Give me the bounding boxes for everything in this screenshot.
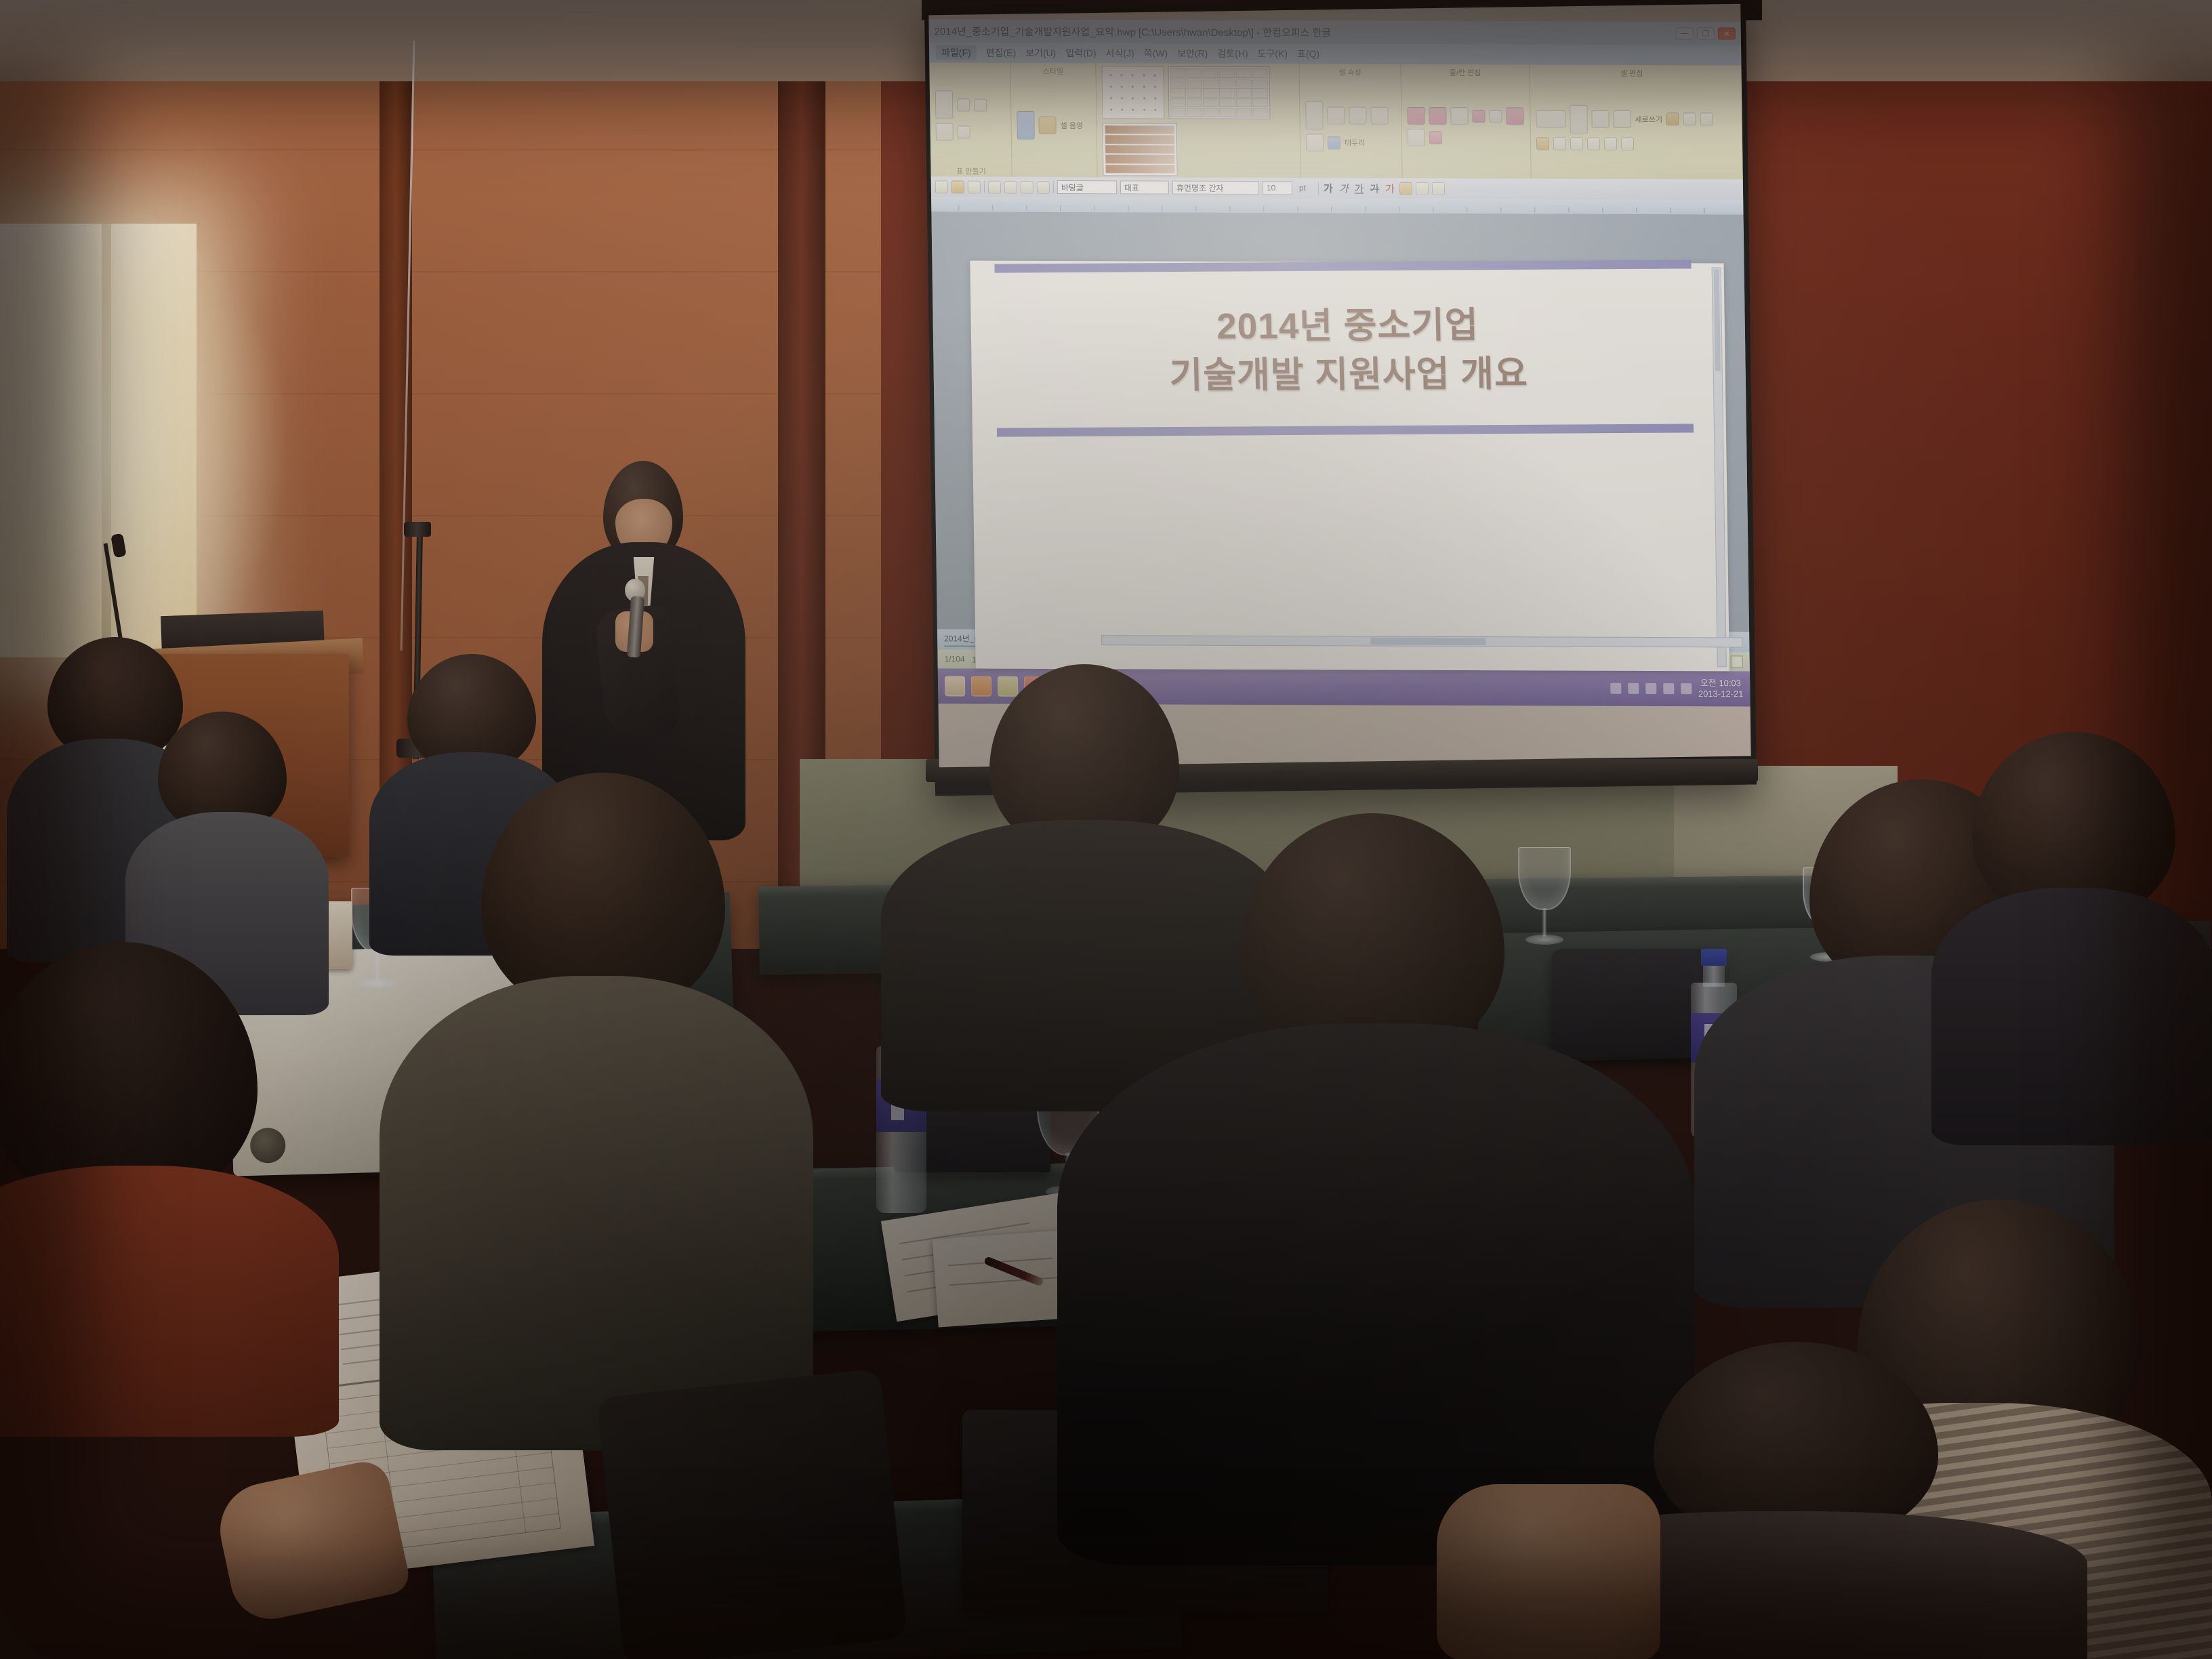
cell-margin-icon[interactable]	[1591, 110, 1609, 127]
menu-item-table[interactable]: 표(Q)	[1297, 47, 1319, 60]
border-box-icon[interactable]	[1305, 101, 1324, 129]
text-direction-icon[interactable]	[1613, 110, 1631, 127]
underline-button[interactable]: 가	[1353, 181, 1365, 195]
menu-item-page[interactable]: 쪽(W)	[1144, 47, 1168, 60]
ribbon-group-cell-properties[interactable]: 셀 속성 테두리	[1299, 64, 1402, 178]
window-mullion	[102, 224, 111, 657]
insert-row-above-icon[interactable]	[1407, 107, 1425, 125]
ribbon-group-row-column-edit-label: 줄/칸 편집	[1406, 67, 1523, 77]
document-title-line2: 기술개발 지원사업 개요	[971, 348, 1726, 401]
attendee-hand-left	[211, 1457, 412, 1626]
font-family-select[interactable]: 휴먼명조 간자	[1172, 181, 1259, 194]
attendee-hand-right	[1437, 1484, 1660, 1659]
ribbon-group-style[interactable]: 스타일 셀 음영	[1010, 63, 1097, 177]
cell-sort-icon[interactable]	[1604, 137, 1617, 150]
document-page[interactable]: 2014년 중소기업 기술개발 지원사업 개요	[970, 261, 1729, 672]
new-document-icon[interactable]	[935, 180, 948, 193]
paragraph-style-select[interactable]: 바탕글	[1057, 180, 1117, 194]
align-justify-icon[interactable]	[1416, 182, 1429, 194]
border-eraser-icon[interactable]	[1370, 107, 1388, 125]
format-toolbar[interactable]: 바탕글 대표 휴먼명조 간자 10 pt 가 가 가 가 가	[931, 176, 1744, 199]
ribbon-group-style-label: 스타일	[1016, 66, 1090, 75]
window-controls[interactable]: — ❐ ✕	[1676, 27, 1736, 39]
delete-row-icon[interactable]	[1506, 107, 1523, 125]
clock-date: 2013-12-21	[1698, 689, 1744, 699]
microphone-stand-clip	[404, 522, 431, 537]
redo-icon[interactable]	[1037, 180, 1050, 193]
attendee-bag	[596, 1368, 908, 1659]
shading-grid-icon[interactable]	[1306, 134, 1324, 151]
app-title-text: 2014년_중소기업_기술개발지원사업_요약.hwp [C:\Users\hwa…	[934, 24, 1670, 41]
table-properties-icon[interactable]	[957, 98, 970, 111]
tray-expand-icon[interactable]	[1610, 683, 1621, 694]
bold-button[interactable]: 가	[1322, 181, 1334, 195]
distribute-rows-icon[interactable]	[1408, 129, 1425, 146]
tray-network-icon[interactable]	[1663, 683, 1674, 694]
app-titlebar: 2014년_중소기업_기술개발지원사업_요약.hwp [C:\Users\hwa…	[928, 19, 1741, 45]
line-spacing-icon[interactable]	[1432, 182, 1445, 194]
char-style-select[interactable]: 대표	[1120, 180, 1169, 194]
tray-flag-icon[interactable]	[1628, 683, 1639, 694]
border-pencil-icon[interactable]	[1327, 106, 1345, 124]
cell-formula-icon[interactable]	[1621, 137, 1634, 150]
cell-fill-icon[interactable]	[1038, 117, 1056, 134]
align-center-icon[interactable]	[1553, 137, 1566, 150]
window	[0, 224, 197, 657]
insert-column-right-icon[interactable]	[1489, 110, 1502, 123]
app-ribbon[interactable]: 표 만들기 스타일 셀 음영	[929, 62, 1743, 179]
attendee-center-left	[380, 773, 813, 1450]
insert-column-left-icon[interactable]	[1472, 110, 1485, 123]
ribbon-group-table-gallery[interactable]	[1096, 63, 1300, 178]
cell-width-icon[interactable]	[1570, 104, 1588, 133]
tray-ime-icon[interactable]	[1645, 683, 1656, 694]
system-tray[interactable]: 오전 10:03 2013-12-21	[1610, 678, 1744, 700]
open-document-icon[interactable]	[951, 180, 964, 193]
close-button[interactable]: ✕	[1718, 27, 1736, 39]
menu-item-view[interactable]: 보기(U)	[1025, 46, 1056, 60]
merge-cells-icon[interactable]	[1429, 107, 1446, 125]
italic-button[interactable]: 가	[1338, 181, 1350, 195]
align-bottom-icon[interactable]	[1700, 112, 1713, 125]
ribbon-group-style-sublabel: 셀 음영	[1060, 120, 1083, 131]
align-middle-icon[interactable]	[1683, 112, 1696, 125]
cell-height-icon[interactable]	[1536, 110, 1565, 127]
menu-item-format[interactable]: 서식(J)	[1105, 46, 1134, 60]
highlight-icon[interactable]	[1399, 182, 1412, 194]
save-document-icon[interactable]	[968, 180, 981, 193]
document-title: 2014년 중소기업 기술개발 지원사업 개요	[970, 269, 1727, 428]
attendee-right-2	[1931, 732, 2212, 1125]
font-color-button[interactable]: 가	[1384, 181, 1396, 195]
print-icon[interactable]	[988, 180, 1001, 193]
minimize-button[interactable]: —	[1676, 27, 1694, 39]
vertical-writing-label: 세로쓰기	[1635, 114, 1662, 125]
split-cells-icon[interactable]	[1450, 107, 1468, 125]
app-menubar[interactable]: 파일(F) 편집(E) 보기(U) 입력(D) 서식(J) 쪽(W) 보안(R)…	[929, 42, 1742, 65]
taskbar-clock[interactable]: 오전 10:03 2013-12-21	[1698, 678, 1744, 700]
border-style-icon[interactable]	[1349, 107, 1366, 125]
menu-item-file[interactable]: 파일(F)	[936, 45, 977, 60]
font-size-select[interactable]: 10	[1263, 181, 1292, 194]
ribbon-group-row-column-edit[interactable]: 줄/칸 편집	[1401, 64, 1531, 179]
zoom-in-button[interactable]	[1731, 655, 1743, 668]
hancom-hangul-window[interactable]: 2014년_중소기업_기술개발지원사업_요약.hwp [C:\Users\hwa…	[928, 19, 1750, 767]
align-left-icon[interactable]	[1536, 137, 1549, 150]
menu-item-security[interactable]: 보안(R)	[1177, 47, 1208, 60]
menu-item-review[interactable]: 검토(H)	[1217, 47, 1248, 60]
projection-screen: 2014년_중소기업_기술개발지원사업_요약.hwp [C:\Users\hwa…	[928, 4, 1750, 768]
cell-protect-icon[interactable]	[1587, 137, 1600, 150]
status-page: 1/104	[944, 654, 964, 663]
table-style-gallery[interactable]	[1168, 66, 1270, 120]
ribbon-group-table[interactable]: 표 만들기	[929, 62, 1012, 176]
align-top-icon[interactable]	[1666, 112, 1679, 125]
undo-icon[interactable]	[1021, 180, 1033, 193]
ribbon-group-table-label: 표 만들기	[936, 165, 1006, 175]
restore-button[interactable]: ❐	[1697, 27, 1715, 39]
strikethrough-button[interactable]: 가	[1368, 181, 1380, 195]
align-right-icon[interactable]	[1570, 137, 1583, 150]
ribbon-group-cell-properties-sublabel: 테두리	[1345, 138, 1366, 148]
tray-volume-icon[interactable]	[1681, 683, 1692, 694]
fill-color-icon[interactable]	[1328, 136, 1340, 149]
menu-item-input[interactable]: 입력(D)	[1065, 46, 1096, 60]
font-size-unit: pt	[1296, 181, 1315, 194]
ribbon-group-cell-edit[interactable]: 셀 편집 세로쓰기	[1530, 65, 1734, 180]
print-preview-icon[interactable]	[1004, 180, 1017, 193]
menu-item-tools[interactable]: 도구(K)	[1257, 47, 1288, 60]
insert-table-icon[interactable]	[935, 90, 954, 119]
document-canvas[interactable]: 2014년 중소기업 기술개발 지원사업 개요	[931, 211, 1749, 632]
ribbon-group-cell-properties-label: 셀 속성	[1305, 66, 1395, 76]
chart-icon[interactable]	[936, 123, 954, 140]
table-style-dot-grid[interactable]	[1101, 66, 1164, 119]
document-title-line1: 2014년 중소기업	[970, 300, 1725, 352]
table-search-icon[interactable]	[958, 125, 970, 138]
clock-time: 오전 10:03	[1698, 678, 1744, 689]
table-preset-gallery[interactable]	[1103, 123, 1178, 176]
seminar-room-photo: 2014년_중소기업_기술개발지원사업_요약.hwp [C:\Users\hwa…	[0, 0, 2212, 1659]
table-split-icon[interactable]	[974, 98, 987, 111]
ribbon-group-cell-edit-label: 셀 편집	[1535, 68, 1727, 78]
attendee-foreground-left	[0, 942, 312, 1416]
cell-shade-icon[interactable]	[1017, 111, 1035, 140]
menu-item-edit[interactable]: 편집(E)	[986, 46, 1017, 60]
delete-column-icon[interactable]	[1429, 131, 1442, 144]
